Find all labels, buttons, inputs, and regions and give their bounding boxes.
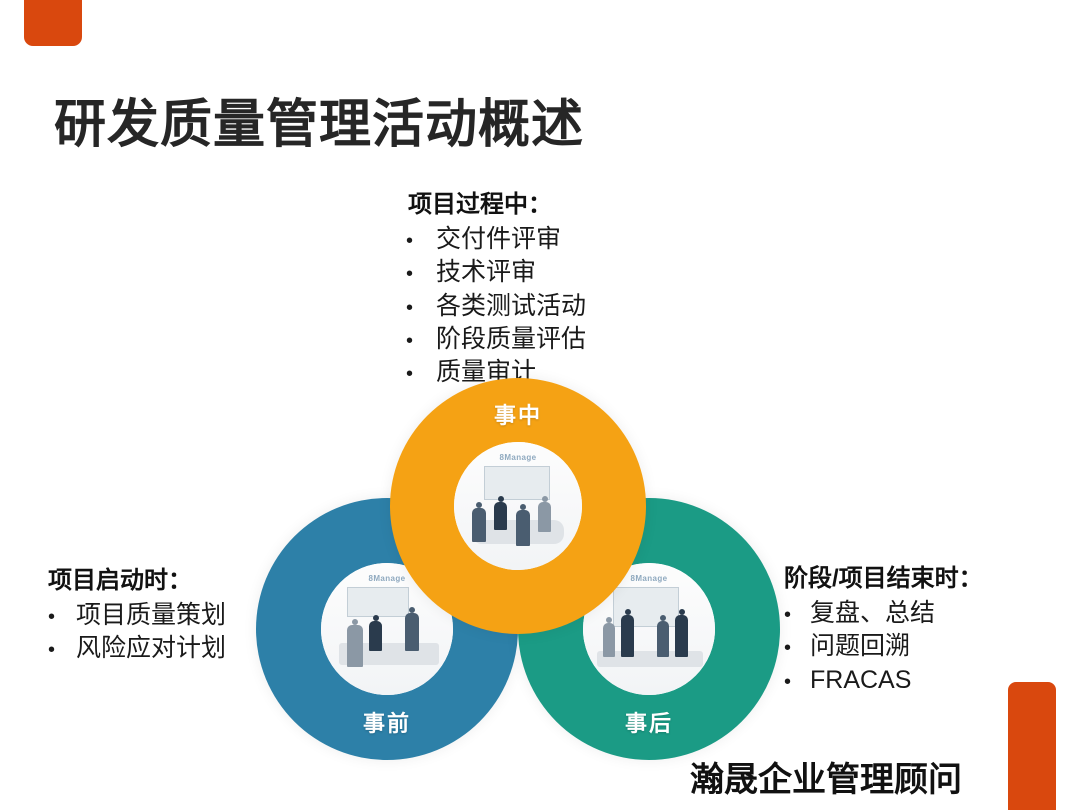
person-figure (369, 621, 382, 651)
page-title: 研发质量管理活动概述 (54, 82, 584, 157)
presentation-screen (484, 466, 550, 500)
bullet-list-during: • 交付件评审 • 技术评审 • 各类测试活动 • 阶段质量评估 • 质量审计 (406, 223, 586, 389)
list-item: • 项目质量策划 (48, 599, 226, 632)
list-item: • 风险应对计划 (48, 632, 226, 665)
block-heading-end: 阶段/项目结束时： (784, 558, 983, 593)
ring-during-hole: 8Manage (454, 442, 582, 570)
list-item-label: 阶段质量评估 (436, 323, 586, 356)
footer-brand: 瀚晟企业管理顾问 (690, 752, 962, 801)
list-item-label: FRACAS (810, 664, 911, 697)
ring-before-label: 事前 (256, 706, 518, 738)
bullet-icon: • (406, 261, 436, 288)
ring-after-label: 事后 (518, 706, 780, 738)
text-block-project-start: 项目启动时： • 项目质量策划 • 风险应对计划 (48, 560, 226, 666)
bullet-list-end: • 复盘、总结 • 问题回溯 • FRACAS (784, 597, 983, 697)
person-figure (494, 502, 507, 530)
accent-block-bottom-right (1008, 682, 1056, 810)
person-figure (603, 623, 615, 657)
list-item: • 阶段质量评估 (406, 323, 586, 356)
person-figure (621, 615, 634, 657)
text-block-during-project: 项目过程中： • 交付件评审 • 技术评审 • 各类测试活动 • 阶段质量评估 … (406, 184, 586, 389)
person-figure (347, 625, 363, 667)
slide-canvas: 研发质量管理活动概述 项目过程中： • 交付件评审 • 技术评审 • 各类测试活… (0, 0, 1078, 810)
person-figure (405, 613, 419, 651)
list-item-label: 项目质量策划 (76, 599, 226, 632)
bullet-icon: • (48, 604, 76, 631)
list-item: • FRACAS (784, 664, 983, 697)
bullet-list-start: • 项目质量策划 • 风险应对计划 (48, 599, 226, 666)
photo-meeting-room: 8Manage (454, 442, 582, 570)
list-item: • 各类测试活动 (406, 290, 586, 323)
person-figure (657, 621, 669, 657)
list-item: • 技术评审 (406, 256, 586, 289)
bullet-icon: • (406, 295, 436, 322)
list-item: • 问题回溯 (784, 630, 983, 663)
bullet-icon: • (48, 637, 76, 664)
accent-block-top-left (24, 0, 82, 46)
ring-during-label: 事中 (390, 398, 646, 430)
list-item-label: 技术评审 (436, 256, 536, 289)
whiteboard (347, 587, 409, 617)
person-figure (538, 502, 551, 532)
list-item: • 复盘、总结 (784, 597, 983, 630)
list-item-label: 复盘、总结 (810, 597, 935, 630)
text-block-project-end: 阶段/项目结束时： • 复盘、总结 • 问题回溯 • FRACAS (784, 558, 983, 697)
list-item-label: 问题回溯 (810, 630, 910, 663)
list-item-label: 风险应对计划 (76, 632, 226, 665)
list-item-label: 各类测试活动 (436, 290, 586, 323)
bullet-icon: • (406, 328, 436, 355)
person-figure (675, 615, 688, 657)
person-figure (472, 508, 486, 542)
block-heading-during: 项目过程中： (408, 184, 586, 219)
list-item-label: 交付件评审 (436, 223, 561, 256)
venn-diagram: 8Manage 事前 8Manage (248, 378, 788, 760)
block-heading-start: 项目启动时： (48, 560, 226, 595)
photo-watermark: 8Manage (454, 453, 582, 462)
bullet-icon: • (406, 228, 436, 255)
ring-during[interactable]: 8Manage 事中 (390, 378, 646, 634)
list-item: • 交付件评审 (406, 223, 586, 256)
person-figure (516, 510, 530, 546)
